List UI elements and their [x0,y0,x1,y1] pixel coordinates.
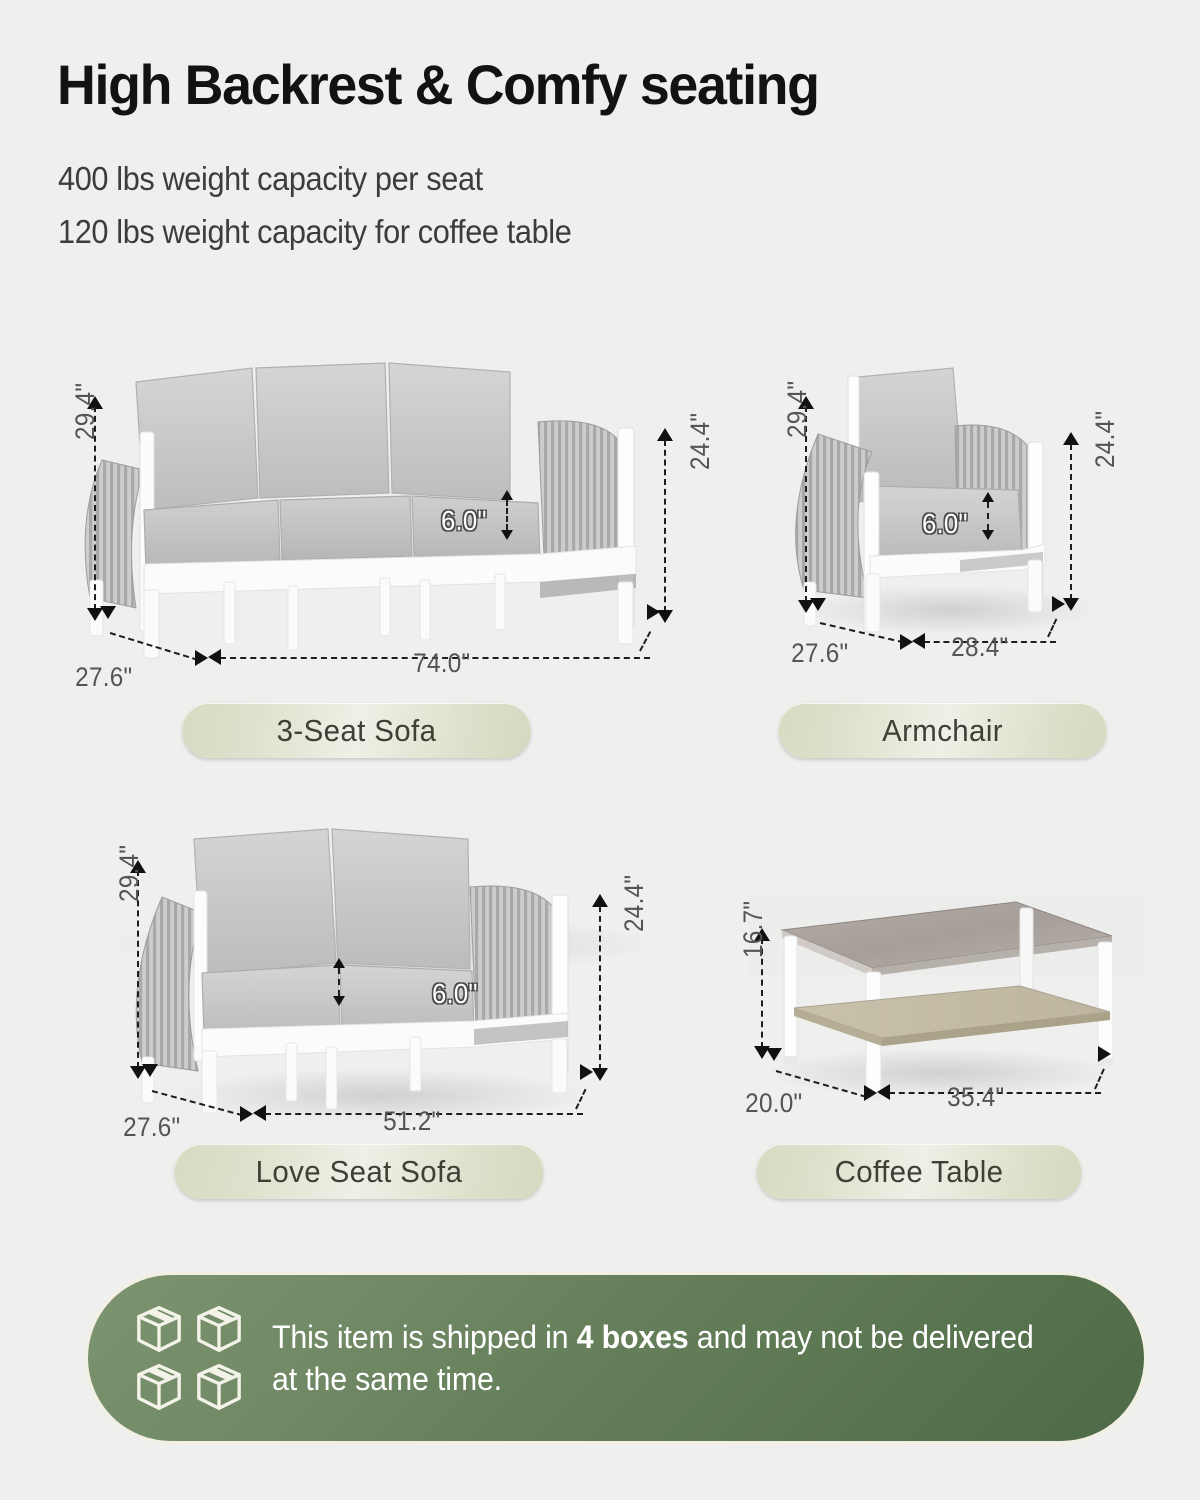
dim-label-depth: 27.6" [75,662,132,693]
dim-arrow-right [1098,1046,1111,1062]
package-box-icon [190,1301,248,1357]
pill-text: Coffee Table [835,1154,1004,1190]
love-seat-sofa-illustration [90,825,650,1125]
label-pill-coffee-table: Coffee Table [757,1144,1082,1199]
dim-arrow-down [501,530,513,540]
product-armchair: 29.4" 24.4" 6.0" 27.6" 28.4" [760,340,1140,760]
dim-arrow-down [592,1068,608,1081]
dim-label-cushion: 6.0" [432,978,478,1010]
label-pill-three-seat-sofa: 3-Seat Sofa [182,703,531,758]
dim-arrow-up [982,492,994,502]
pill-text: Love Seat Sofa [256,1154,463,1190]
dim-arrow-down [1063,598,1079,611]
page-title: High Backrest & Comfy seating [57,52,819,117]
dim-line-cushion [338,968,340,996]
dim-label-back-height: 24.4" [619,875,650,932]
dim-arrow-down [100,606,116,619]
pill-text: 3-Seat Sofa [277,713,437,749]
label-pill-armchair: Armchair [779,703,1107,758]
dim-label-height: 29.4" [782,381,813,438]
dim-label-depth: 20.0" [745,1088,802,1119]
dim-line-back-height [599,906,601,1070]
dim-arrow-right [195,650,208,666]
package-box-icon [130,1359,188,1415]
package-box-icon [190,1359,248,1415]
dim-arrow-down [982,530,994,540]
shipping-box-count: 4 boxes [577,1319,689,1355]
dim-arrow-down [766,1048,782,1061]
label-pill-love-seat-sofa: Love Seat Sofa [175,1144,544,1199]
dim-line-cushion [987,502,989,530]
subtitle-weight-table: 120 lbs weight capacity for coffee table [58,213,571,251]
dim-arrow-right [580,1064,593,1080]
dim-label-height: 29.4" [70,383,101,440]
product-coffee-table: 16.7" 20.0" 35.4" [720,880,1160,1160]
infographic-page: High Backrest & Comfy seating 400 lbs we… [0,0,1200,1500]
shipping-banner-text: This item is shipped in 4 boxes and may … [272,1316,1051,1400]
dim-arrow-right [1052,596,1065,612]
dim-label-back-height: 24.4" [1090,411,1121,468]
pill-text: Armchair [882,713,1003,749]
dim-line-cushion [506,500,508,530]
dim-label-width: 74.0" [413,648,470,679]
dim-label-cushion: 6.0" [441,505,487,537]
dim-label-depth: 27.6" [791,638,848,669]
dim-arrow-down [810,598,826,611]
shipping-text-before: This item is shipped in [272,1319,577,1355]
dim-arrow-right [864,1085,877,1101]
dim-line-back-height [1070,444,1072,600]
shipping-box-icon-grid [130,1301,248,1415]
dim-arrow-up [501,490,513,500]
dim-label-width: 35.4" [947,1082,1004,1113]
coffee-table-illustration [720,890,1160,1120]
dim-label-depth: 27.6" [123,1112,180,1143]
dim-label-width: 51.2" [383,1106,440,1137]
dim-arrow-down [333,996,345,1006]
three-seat-sofa-illustration [40,350,700,680]
dim-line-back-height [664,440,666,612]
dim-label-height: 29.4" [114,845,145,902]
package-box-icon [130,1301,188,1357]
dim-arrow-up [333,958,345,968]
subtitle-weight-seat: 400 lbs weight capacity per seat [58,160,483,198]
dim-arrow-right [647,604,660,620]
dim-label-width: 28.4" [951,632,1008,663]
shipping-banner: This item is shipped in 4 boxes and may … [85,1272,1147,1444]
dim-arrow-right [240,1106,253,1122]
dim-arrow-down [142,1064,158,1077]
dim-label-back-height: 24.4" [685,413,716,470]
dim-label-cushion: 6.0" [922,508,968,540]
dim-label-height: 16.7" [738,901,769,958]
